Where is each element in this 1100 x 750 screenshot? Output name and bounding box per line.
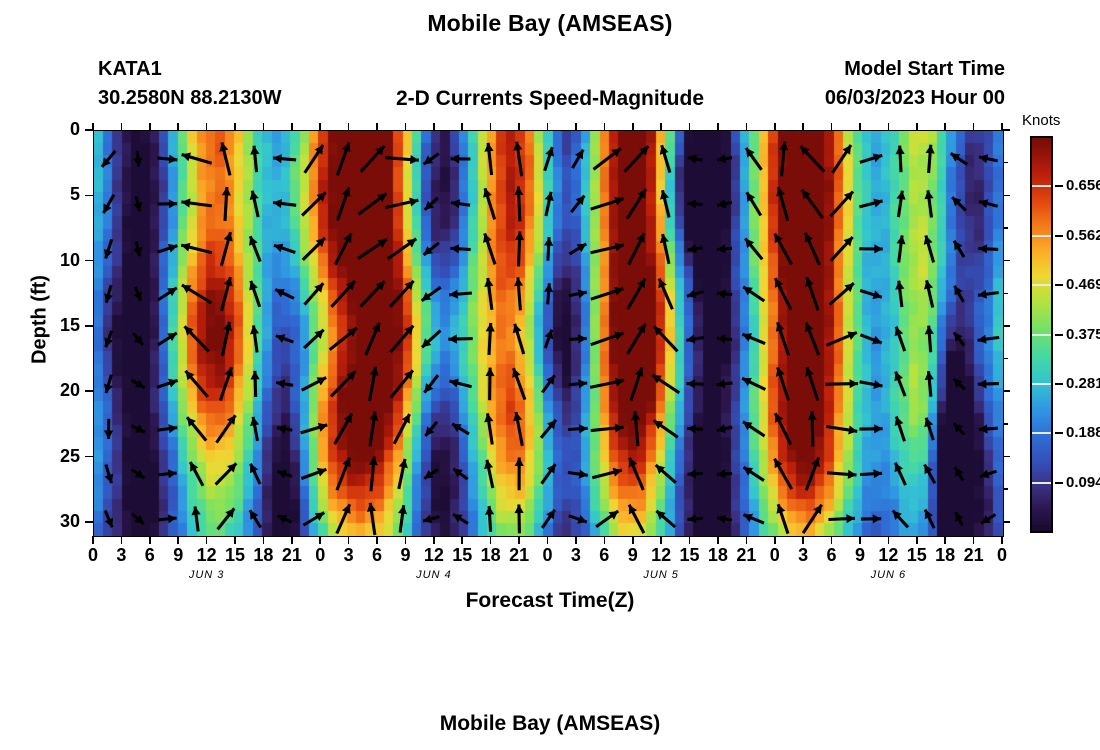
y-axis-tick-right (1003, 521, 1010, 523)
colorbar-inner-tick (1032, 383, 1051, 385)
y-axis-tick-right (1003, 260, 1010, 262)
y-axis-minor-tick-right (1003, 227, 1008, 229)
x-axis-tick-top (263, 123, 265, 131)
x-axis-tick (1001, 536, 1003, 544)
x-axis-tick-top (973, 123, 975, 131)
x-axis-tick-top (348, 123, 350, 131)
model-start-time-label: Model Start Time (844, 58, 1005, 81)
y-axis-tick (85, 456, 93, 458)
y-axis-tick-label: 0 (36, 119, 80, 140)
x-axis-tick (405, 536, 407, 544)
y-axis-tick-right (1003, 129, 1010, 131)
x-axis-tick-top (121, 123, 123, 131)
colorbar-outer-tick (1055, 482, 1063, 484)
x-axis-tick (348, 536, 350, 544)
y-axis-tick (85, 521, 93, 523)
x-axis-tick (689, 536, 691, 544)
colorbar-outer-tick (1055, 185, 1063, 187)
colorbar-inner-tick (1032, 235, 1051, 237)
x-axis-tick (859, 536, 861, 544)
colorbar-outer-tick (1055, 284, 1063, 286)
colorbar-tick-label: 0.469 (1066, 276, 1100, 293)
x-axis-day-label: JUN 5 (616, 569, 706, 581)
x-axis-tick-top (831, 123, 833, 131)
y-axis-tick-right (1003, 456, 1010, 458)
y-axis-minor-tick-right (1003, 162, 1008, 164)
x-axis-tick-top (291, 123, 293, 131)
colorbar-tick-label: 0.281 (1066, 375, 1100, 392)
x-axis-tick-top (575, 123, 577, 131)
colorbar-inner-tick (1032, 334, 1051, 336)
heatmap-plot-area (93, 130, 1004, 537)
x-axis-tick-top (234, 123, 236, 131)
x-axis-tick-top (802, 123, 804, 131)
station-id-label: KATA1 (98, 58, 162, 81)
x-axis-tick (518, 536, 520, 544)
x-axis-tick-top (689, 123, 691, 131)
x-axis-tick (234, 536, 236, 544)
colorbar-inner-tick (1032, 432, 1051, 434)
x-axis-tick (831, 536, 833, 544)
x-axis-tick-top (518, 123, 520, 131)
x-axis-day-label: JUN 4 (389, 569, 479, 581)
x-axis-tick (717, 536, 719, 544)
colorbar-outer-tick (1055, 383, 1063, 385)
x-axis-tick-top (461, 123, 463, 131)
y-axis-tick (85, 390, 93, 392)
x-axis-tick (575, 536, 577, 544)
x-axis-tick (973, 536, 975, 544)
x-axis-tick-top (376, 123, 378, 131)
x-axis-tick-top (547, 123, 549, 131)
x-axis-day-label: JUN 6 (843, 569, 933, 581)
x-axis-tick-top (888, 123, 890, 131)
y-axis-tick (85, 195, 93, 197)
y-axis-tick (85, 129, 93, 131)
y-axis-tick-right (1003, 325, 1010, 327)
x-axis-tick (291, 536, 293, 544)
x-axis-tick (92, 536, 94, 544)
x-axis-tick (802, 536, 804, 544)
x-axis-tick (319, 536, 321, 544)
x-axis-tick-top (405, 123, 407, 131)
x-axis-tick-top (490, 123, 492, 131)
x-axis-tick (121, 536, 123, 544)
y-axis-tick-label: 25 (36, 446, 80, 467)
colorbar-inner-tick (1032, 185, 1051, 187)
x-axis-tick-top (177, 123, 179, 131)
page-title: Mobile Bay (AMSEAS) (0, 10, 1100, 37)
colorbar-unit-label: Knots (1022, 112, 1060, 129)
model-start-time-value: 06/03/2023 Hour 00 (825, 87, 1005, 110)
y-axis-tick-right (1003, 390, 1010, 392)
x-axis-tick-top (632, 123, 634, 131)
colorbar-tick-label: 0.188 (1066, 424, 1100, 441)
x-axis-tick (263, 536, 265, 544)
x-axis-tick (916, 536, 918, 544)
x-axis-tick (888, 536, 890, 544)
x-axis-tick (490, 536, 492, 544)
y-axis-tick-label: 5 (36, 184, 80, 205)
y-axis-minor-tick-right (1003, 423, 1008, 425)
colorbar-inner-tick (1032, 482, 1051, 484)
colorbar-tick-label: 0.656 (1066, 177, 1100, 194)
x-axis-tick (461, 536, 463, 544)
colorbar-outer-tick (1055, 334, 1063, 336)
colorbar-inner-tick (1032, 284, 1051, 286)
x-axis-tick-label: 0 (982, 545, 1022, 566)
x-axis-tick-top (859, 123, 861, 131)
x-axis-tick (206, 536, 208, 544)
x-axis-tick-top (319, 123, 321, 131)
x-axis-tick-top (149, 123, 151, 131)
x-axis-tick (660, 536, 662, 544)
current-direction-vector-overlay (94, 131, 1003, 536)
y-axis-tick (85, 325, 93, 327)
x-axis-tick (149, 536, 151, 544)
x-axis-tick-top (604, 123, 606, 131)
x-axis-tick-top (746, 123, 748, 131)
x-axis-tick (177, 536, 179, 544)
x-axis-tick-top (660, 123, 662, 131)
chart-page: Mobile Bay (AMSEAS) KATA1 30.2580N 88.21… (0, 0, 1100, 750)
x-axis-tick-top (944, 123, 946, 131)
colorbar-tick-label: 0.094 (1066, 474, 1100, 491)
x-axis-tick (604, 536, 606, 544)
x-axis-title: Forecast Time(Z) (0, 589, 1100, 613)
colorbar-outer-tick (1055, 432, 1063, 434)
colorbar-outer-tick (1055, 235, 1063, 237)
x-axis-tick-top (774, 123, 776, 131)
x-axis-tick (632, 536, 634, 544)
x-axis-tick (376, 536, 378, 544)
y-axis-minor-tick-right (1003, 488, 1008, 490)
y-axis-minor-tick-right (1003, 358, 1008, 360)
x-axis-day-label: JUN 3 (162, 569, 252, 581)
y-axis-tick-right (1003, 195, 1010, 197)
colorbar-tick-label: 0.562 (1066, 227, 1100, 244)
x-axis-tick (433, 536, 435, 544)
colorbar-tick-label: 0.375 (1066, 326, 1100, 343)
x-axis-tick-top (433, 123, 435, 131)
x-axis-tick-top (916, 123, 918, 131)
x-axis-tick-top (717, 123, 719, 131)
x-axis-tick (774, 536, 776, 544)
footer-title: Mobile Bay (AMSEAS) (0, 712, 1100, 736)
y-axis-minor-tick-right (1003, 293, 1008, 295)
y-axis-tick (85, 260, 93, 262)
x-axis-tick-top (206, 123, 208, 131)
x-axis-tick (547, 536, 549, 544)
y-axis-title: Depth (ft) (29, 255, 52, 385)
y-axis-tick-label: 30 (36, 511, 80, 532)
x-axis-tick (944, 536, 946, 544)
x-axis-tick (746, 536, 748, 544)
